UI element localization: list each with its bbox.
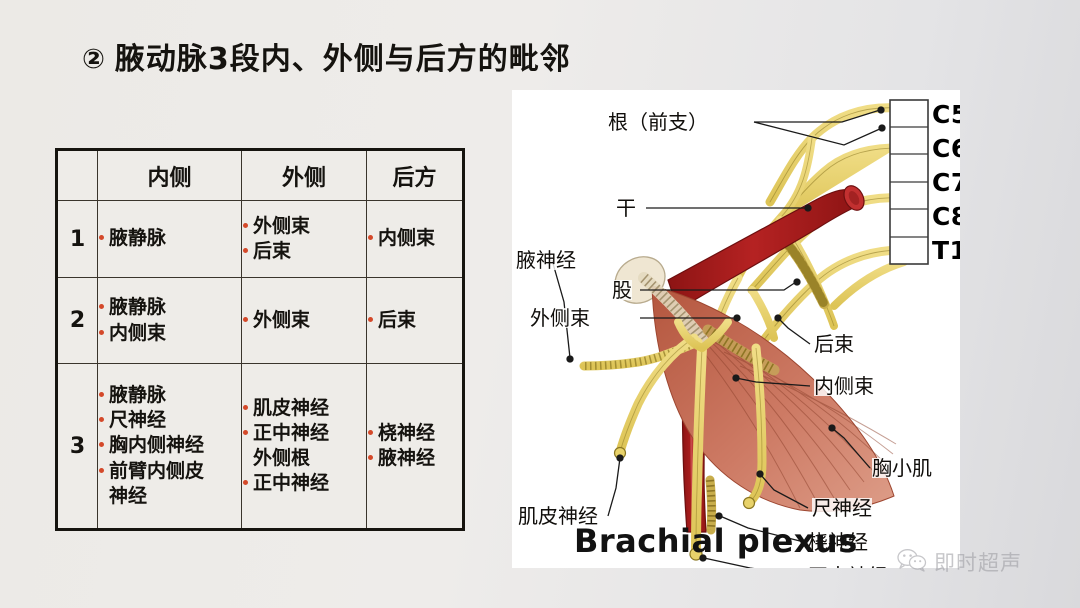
list-item: 外侧束 [242, 308, 366, 333]
annotation-pectoralis-minor: 胸小肌 [872, 458, 932, 478]
table-row: 2 腋静脉 内侧束 外侧束 后束 [57, 278, 464, 364]
table-row: 3 腋静脉 尺神经 胸内侧神经 前臂内侧皮 神经 肌皮神经 正中神经 外侧根 正… [57, 364, 464, 530]
cell-posterior: 后束 [367, 278, 464, 364]
annotation-trunk: 干 [616, 198, 636, 218]
vertebral-label-c8: C8 [932, 202, 960, 231]
vertebral-column [890, 100, 928, 264]
list-item: 后束 [242, 239, 366, 264]
vertebral-label-c6: C6 [932, 134, 960, 163]
brachial-plexus-diagram: 根（前支） 干 股 外侧束 后束 内侧束 胸小肌 腋神经 肌皮神经 尺神经 桡神… [512, 90, 960, 568]
list-item: 内侧束 [367, 226, 462, 251]
list-item: 正中神经 [242, 421, 366, 446]
list-item: 尺神经 [98, 408, 241, 433]
slide-marker: ② [82, 44, 106, 75]
header-cell-posterior: 后方 [367, 150, 464, 201]
annotation-lateral-cord: 外侧束 [530, 308, 590, 328]
header-cell-blank [57, 150, 98, 201]
list-item: 神经 [98, 484, 241, 509]
list-item: 腋静脉 [98, 295, 241, 320]
cell-posterior: 内侧束 [367, 201, 464, 278]
row-index: 3 [57, 364, 98, 530]
list-item: 外侧束 [242, 214, 366, 239]
annotation-ulnar-nerve: 尺神经 [812, 498, 872, 518]
annotation-median-nerve: 正中神经 [808, 566, 888, 568]
cell-posterior: 桡神经 腋神经 [367, 364, 464, 530]
cell-lateral: 外侧束 后束 [242, 201, 367, 278]
header-cell-lateral: 外侧 [242, 150, 367, 201]
row-index: 1 [57, 201, 98, 278]
wechat-icon [897, 548, 927, 576]
annotation-axillary-nerve: 腋神经 [516, 250, 576, 270]
vertebral-label-c7: C7 [932, 168, 960, 197]
watermark-text: 即时超声 [934, 547, 1022, 577]
list-item: 内侧束 [98, 321, 241, 346]
vertebral-label-t1: T1 [932, 236, 960, 265]
list-item: 腋静脉 [98, 226, 241, 251]
table-header-row: 内侧 外侧 后方 [57, 150, 464, 201]
cell-medial: 腋静脉 尺神经 胸内侧神经 前臂内侧皮 神经 [98, 364, 242, 530]
cell-medial: 腋静脉 内侧束 [98, 278, 242, 364]
list-item: 肌皮神经 [242, 396, 366, 421]
diagram-caption: Brachial plexus [574, 522, 858, 560]
list-item: 前臂内侧皮 [98, 459, 241, 484]
list-item: 正中神经 [242, 471, 366, 496]
list-item: 胸内侧神经 [98, 433, 241, 458]
list-item: 腋静脉 [98, 383, 241, 408]
annotation-medial-cord: 内侧束 [814, 376, 874, 396]
list-item: 后束 [367, 308, 462, 333]
list-item: 外侧根 [242, 446, 366, 471]
header-cell-medial: 内侧 [98, 150, 242, 201]
table-row: 1 腋静脉 外侧束 后束 内侧束 [57, 201, 464, 278]
list-item: 桡神经 [367, 421, 462, 446]
slide-title-text: 腋动脉3段内、外侧与后方的毗邻 [115, 42, 571, 77]
annotation-root: 根（前支） [608, 112, 708, 132]
cell-medial: 腋静脉 [98, 201, 242, 278]
axillary-artery-relations-table: 内侧 外侧 后方 1 腋静脉 外侧束 后束 内侧束 [55, 148, 465, 531]
cell-lateral: 外侧束 [242, 278, 367, 364]
watermark: 即时超声 [897, 547, 1022, 577]
annotation-posterior-cord: 后束 [814, 334, 854, 354]
vertebral-label-c5: C5 [932, 100, 960, 129]
cell-lateral: 肌皮神经 正中神经 外侧根 正中神经 [242, 364, 367, 530]
page-title: ②腋动脉3段内、外侧与后方的毗邻 [82, 34, 571, 78]
row-index: 2 [57, 278, 98, 364]
list-item: 腋神经 [367, 446, 462, 471]
annotation-division: 股 [612, 280, 632, 300]
